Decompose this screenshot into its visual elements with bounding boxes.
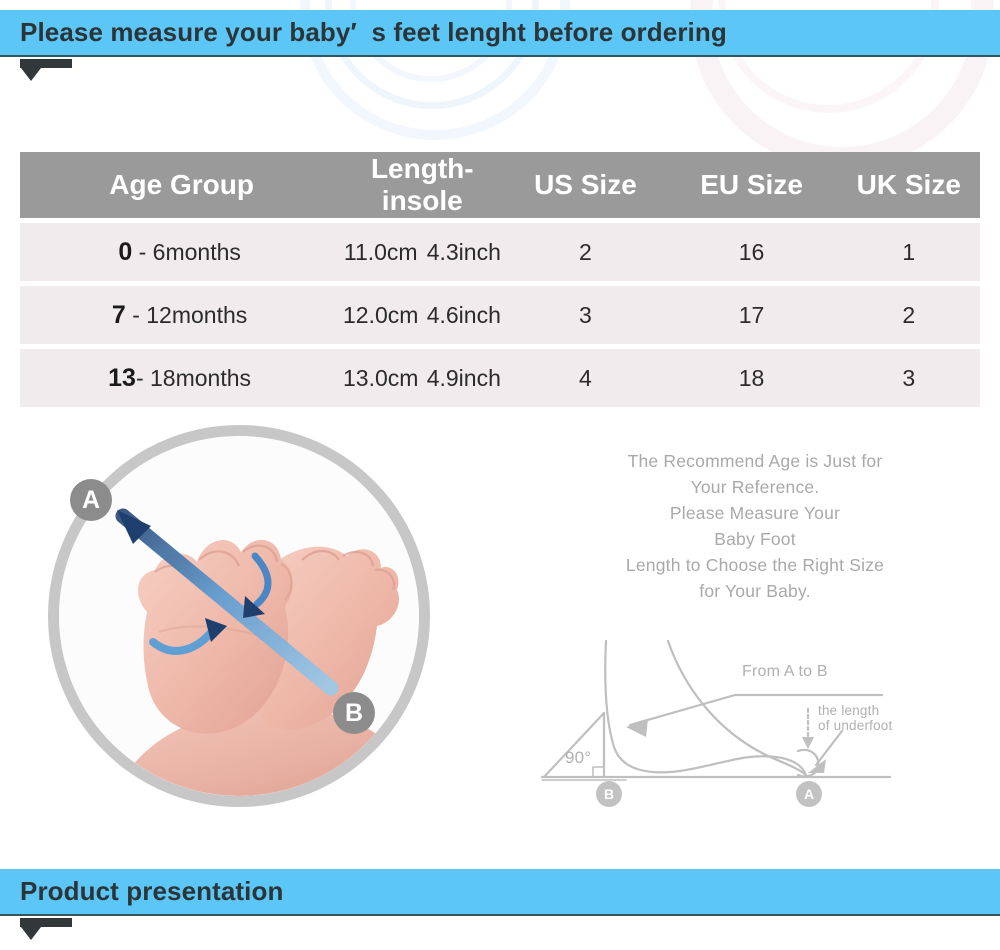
label-length-of-underfoot: the length of underfoot <box>818 703 892 733</box>
top-banner: Please measure your baby′ s feet lenght … <box>0 10 1000 57</box>
column-header-eu-size: EU Size <box>666 152 838 218</box>
photo-marker-a: A <box>70 479 112 521</box>
cell-age-group: 0 - 6months <box>20 223 339 281</box>
baby-foot-photo <box>59 436 419 796</box>
cell-length-cm: 13.0cm <box>339 349 422 407</box>
age-number: 7 <box>112 301 126 329</box>
baby-foot-illustration <box>59 436 419 796</box>
cell-length-inch: 4.9inch <box>422 349 505 407</box>
table-row: 0 - 6months 11.0cm 4.3inch 2 16 1 <box>20 223 980 281</box>
table-row: 13- 18months 13.0cm 4.9inch 4 18 3 <box>20 349 980 407</box>
column-header-length-insole: Length-insole <box>339 152 505 218</box>
diagram-marker-a: A <box>796 781 822 807</box>
age-range: - 6months <box>139 239 241 265</box>
cell-uk-size: 1 <box>838 223 980 281</box>
table-row: 7 - 12months 12.0cm 4.6inch 3 17 2 <box>20 286 980 344</box>
cell-us-size: 2 <box>505 223 665 281</box>
bottom-banner: Product presentation <box>0 869 1000 916</box>
diagram-marker-b: B <box>596 781 622 807</box>
cell-eu-size: 18 <box>666 349 838 407</box>
age-number: 0 <box>118 238 132 266</box>
label-underfoot-line1: the length <box>818 703 892 718</box>
recommendation-line: Length to Choose the Right Size <box>540 552 970 578</box>
cell-uk-size: 2 <box>838 286 980 344</box>
column-header-uk-size: UK Size <box>838 152 980 218</box>
recommendation-line: Please Measure Your <box>540 500 970 526</box>
age-number: 13 <box>108 364 136 392</box>
bottom-banner-pointer-tab <box>20 918 72 927</box>
recommendation-line: Baby Foot <box>540 526 970 552</box>
cell-age-group: 13- 18months <box>20 349 339 407</box>
label-underfoot-line2: of underfoot <box>818 718 892 733</box>
cell-eu-size: 16 <box>666 223 838 281</box>
baby-foot-photo-circle <box>48 425 430 807</box>
cell-uk-size: 3 <box>838 349 980 407</box>
cell-us-size: 4 <box>505 349 665 407</box>
cell-eu-size: 17 <box>666 286 838 344</box>
top-banner-pointer-tab <box>20 59 72 68</box>
top-banner-title: Please measure your baby′ s feet lenght … <box>20 16 727 47</box>
recommendation-line: Your Reference. <box>540 474 970 500</box>
recommendation-line: for Your Baby. <box>540 578 970 604</box>
cell-length-cm: 11.0cm <box>339 223 422 281</box>
recommendation-text: The Recommend Age is Just for Your Refer… <box>540 448 970 604</box>
bottom-banner-title: Product presentation <box>20 875 283 906</box>
cell-length-cm: 12.0cm <box>339 286 422 344</box>
photo-marker-b: B <box>333 692 375 734</box>
column-header-us-size: US Size <box>505 152 665 218</box>
table-header-row: Age Group Length-insole US Size EU Size … <box>20 152 980 218</box>
cell-age-group: 7 - 12months <box>20 286 339 344</box>
foot-measurement-diagram: From A to B the length of underfoot 90° … <box>530 625 930 820</box>
age-range: - 18months <box>136 365 251 391</box>
column-header-age-group: Age Group <box>20 152 339 218</box>
recommendation-line: The Recommend Age is Just for <box>540 448 970 474</box>
cell-length-inch: 4.6inch <box>422 286 505 344</box>
label-from-a-to-b: From A to B <box>742 663 828 681</box>
size-chart-table: Age Group Length-insole US Size EU Size … <box>20 147 980 412</box>
cell-us-size: 3 <box>505 286 665 344</box>
label-right-angle: 90° <box>565 748 591 768</box>
cell-length-inch: 4.3inch <box>422 223 505 281</box>
age-range: - 12months <box>132 302 247 328</box>
